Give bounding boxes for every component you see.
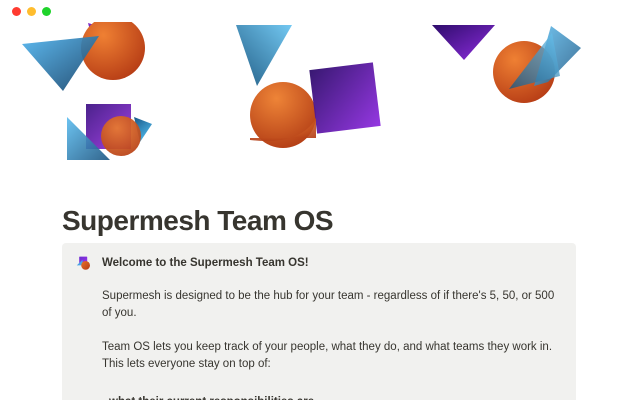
- supermesh-logo-icon: [76, 256, 91, 271]
- page-title: Supermesh Team OS: [62, 204, 333, 238]
- callout-paragraph-2: Team OS lets you keep track of your peop…: [76, 339, 562, 373]
- callout-header: Welcome to the Supermesh Team OS!: [76, 255, 562, 271]
- window-titlebar: [0, 0, 640, 22]
- callout-heading: Welcome to the Supermesh Team OS!: [102, 255, 309, 271]
- close-window-button[interactable]: [12, 7, 21, 16]
- page-content: Supermesh Team OS: [0, 185, 640, 400]
- welcome-callout: Welcome to the Supermesh Team OS! Superm…: [62, 243, 576, 400]
- cover-artwork: [0, 0, 640, 185]
- window-controls: [12, 7, 51, 16]
- cover-shape-group-middle: [236, 25, 381, 148]
- maximize-window-button[interactable]: [42, 7, 51, 16]
- callout-paragraph-1: Supermesh is designed to be the hub for …: [76, 288, 562, 322]
- cover-shape-group-right: [432, 25, 581, 103]
- callout-bullet-list: - what their current responsibilities ar…: [76, 393, 562, 400]
- cover-shape-group-left: [22, 16, 152, 160]
- cover-image: [0, 0, 640, 185]
- app-window: Supermesh Team OS: [0, 0, 640, 400]
- callout-bullet-item: - what their current responsibilities ar…: [102, 393, 562, 400]
- minimize-window-button[interactable]: [27, 7, 36, 16]
